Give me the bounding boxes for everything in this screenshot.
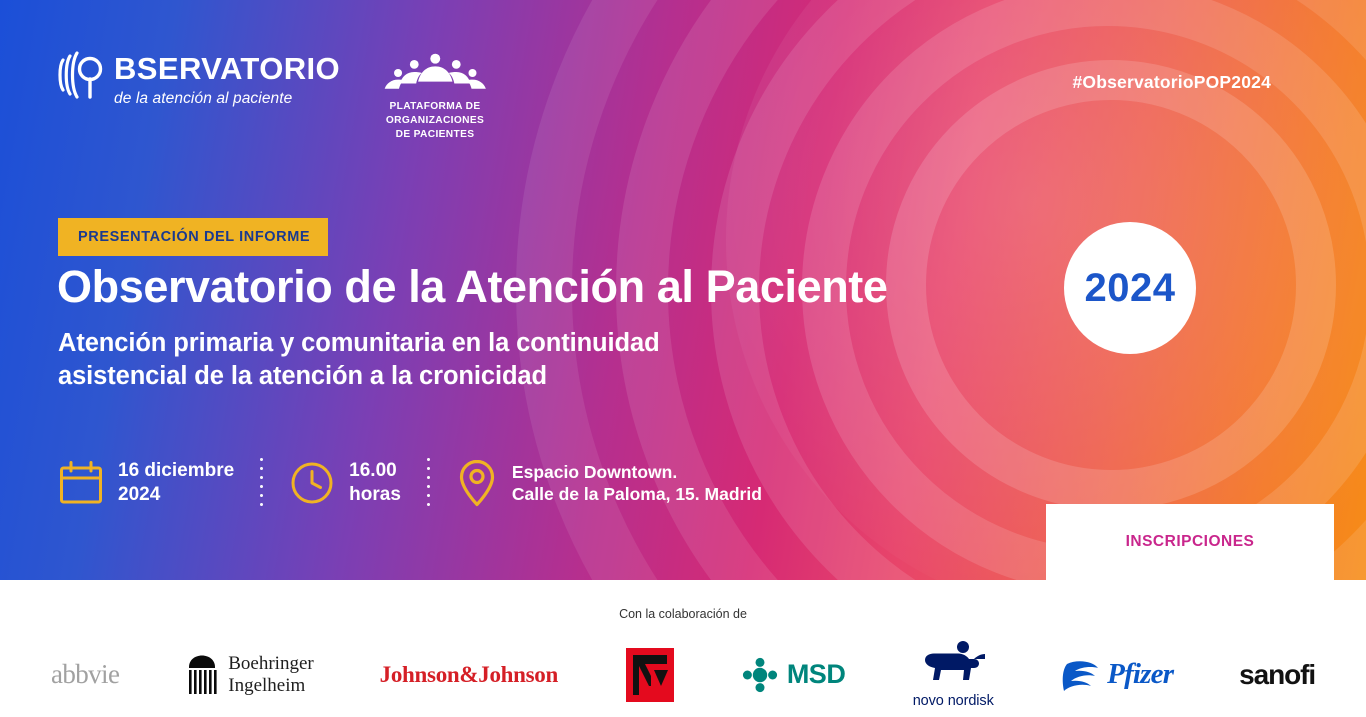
sponsor-logos: abbvie Boehringer Ingelheim bbox=[0, 632, 1366, 717]
sponsor-johnson-and-johnson: Johnson&Johnson bbox=[380, 639, 558, 711]
report-presentation-badge: PRESENTACIÓN DEL INFORME bbox=[58, 218, 328, 256]
event-hashtag: #ObservatorioPOP2024 bbox=[1072, 72, 1271, 93]
sponsor-abbvie-label: abbvie bbox=[51, 659, 119, 690]
observatorio-subtitle: de la atención al paciente bbox=[114, 90, 340, 108]
event-details: 16 diciembre 2024 16.00 horas bbox=[58, 455, 762, 511]
event-time-text: 16.00 horas bbox=[349, 459, 401, 508]
novo-nordisk-bull-icon bbox=[911, 640, 995, 686]
pop-logo-line1: PLATAFORMA DE ORGANIZACIONES bbox=[345, 100, 525, 128]
clock-icon bbox=[289, 460, 335, 506]
divider bbox=[260, 455, 263, 511]
event-poster: BSERVATORIO de la atención al paciente P… bbox=[0, 0, 1366, 717]
footer-section: Con la colaboración de abbvie bbox=[0, 580, 1366, 717]
observatorio-wave-icon bbox=[57, 50, 103, 100]
year-badge-label: 2024 bbox=[1085, 266, 1176, 311]
calendar-icon bbox=[58, 460, 104, 506]
event-date: 16 diciembre 2024 bbox=[58, 459, 234, 508]
pop-logo: PLATAFORMA DE ORGANIZACIONES DE PACIENTE… bbox=[345, 52, 525, 141]
inscriptions-button-label: INSCRIPCIONES bbox=[1126, 533, 1255, 551]
sponsor-msd-label: MSD bbox=[787, 659, 846, 690]
event-time: 16.00 horas bbox=[289, 459, 401, 508]
sponsor-msd: MSD bbox=[742, 639, 846, 711]
location-pin-icon bbox=[456, 458, 498, 508]
event-location-line1: Espacio Downtown. bbox=[512, 461, 762, 483]
msd-icon bbox=[742, 657, 778, 693]
event-time-line2: horas bbox=[349, 483, 401, 507]
boehringer-ingelheim-icon bbox=[185, 652, 219, 698]
people-group-icon bbox=[378, 52, 493, 94]
collaboration-label: Con la colaboración de bbox=[0, 607, 1366, 621]
inscriptions-button[interactable]: INSCRIPCIONES bbox=[1046, 504, 1334, 580]
sponsor-merck bbox=[624, 639, 676, 711]
merck-icon bbox=[624, 646, 676, 704]
event-location-line2: Calle de la Paloma, 15. Madrid bbox=[512, 483, 762, 505]
divider bbox=[427, 455, 430, 511]
event-date-line1: 16 diciembre bbox=[118, 459, 234, 483]
page-subtitle: Atención primaria y comunitaria en la co… bbox=[58, 327, 660, 393]
sponsor-abbvie: abbvie bbox=[51, 639, 119, 711]
event-time-line1: 16.00 bbox=[349, 459, 401, 483]
hero-section: BSERVATORIO de la atención al paciente P… bbox=[0, 0, 1366, 580]
sponsor-novo-nordisk-label: novo nordisk bbox=[911, 693, 995, 709]
sponsor-novo-nordisk: novo nordisk bbox=[911, 639, 995, 711]
event-date-line2: 2024 bbox=[118, 483, 234, 507]
sponsor-boehringer-ingelheim: Boehringer Ingelheim bbox=[185, 639, 313, 711]
sponsor-jnj-label: Johnson&Johnson bbox=[380, 662, 558, 688]
event-location-text: Espacio Downtown. Calle de la Paloma, 15… bbox=[512, 461, 762, 506]
sponsor-boehringer-line1: Boehringer bbox=[228, 653, 313, 674]
observatorio-title: BSERVATORIO bbox=[114, 53, 340, 84]
event-location: Espacio Downtown. Calle de la Paloma, 15… bbox=[456, 458, 762, 508]
sponsor-boehringer-line2: Ingelheim bbox=[228, 675, 313, 696]
pfizer-icon bbox=[1061, 658, 1101, 692]
pop-logo-line2: DE PACIENTES bbox=[345, 128, 525, 142]
sponsor-pfizer: Pfizer bbox=[1061, 639, 1173, 711]
page-subtitle-line2: asistencial de la atención a la cronicid… bbox=[58, 360, 660, 393]
observatorio-logo: BSERVATORIO de la atención al paciente bbox=[57, 48, 340, 108]
sponsor-sanofi-label: sanofi bbox=[1239, 659, 1315, 691]
year-badge: 2024 bbox=[1064, 222, 1196, 354]
sponsor-pfizer-label: Pfizer bbox=[1107, 658, 1173, 691]
event-date-text: 16 diciembre 2024 bbox=[118, 459, 234, 508]
page-title: Observatorio de la Atención al Paciente bbox=[57, 262, 888, 312]
page-subtitle-line1: Atención primaria y comunitaria en la co… bbox=[58, 327, 660, 360]
sponsor-sanofi: sanofi bbox=[1239, 639, 1315, 711]
